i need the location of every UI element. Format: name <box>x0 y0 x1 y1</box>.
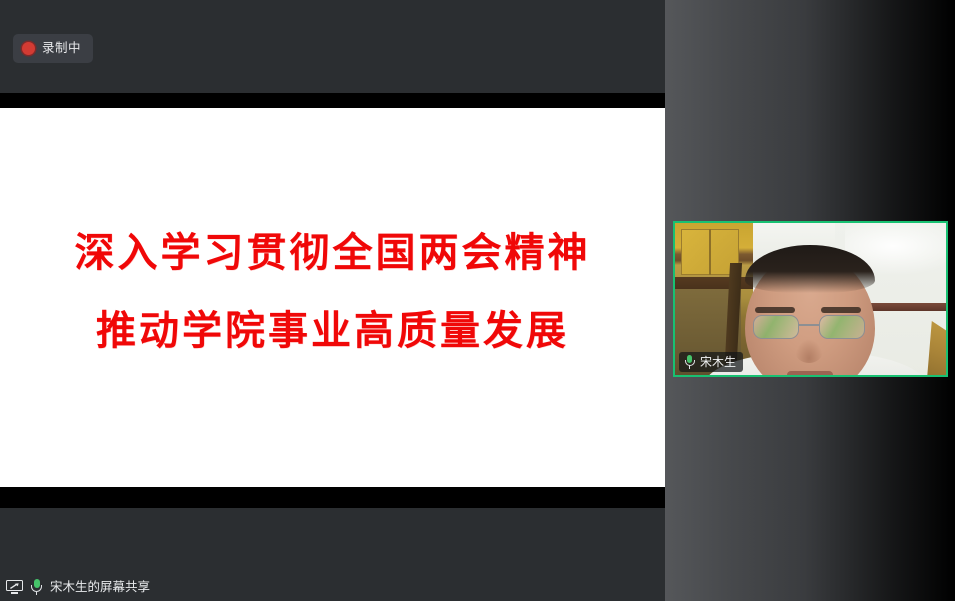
slide-headline-line-1: 深入学习贯彻全国两会精神 <box>75 214 591 292</box>
microphone-icon <box>684 355 695 370</box>
recording-badge[interactable]: 录制中 <box>13 34 93 63</box>
meeting-window: 录制中 深入学习贯彻全国两会精神 推动学院事业高质量发展 <box>0 0 955 601</box>
record-dot-icon <box>22 42 35 55</box>
participant-video-tile[interactable]: 宋木生 <box>673 221 948 377</box>
share-status-bar: 宋木生的屏幕共享 <box>0 574 665 601</box>
slide-headline-line-2: 推动学院事业高质量发展 <box>96 292 569 370</box>
letterbox-bottom <box>0 487 665 508</box>
screen-share-icon <box>6 580 23 595</box>
recording-label: 录制中 <box>42 42 81 55</box>
shared-screen-viewport[interactable]: 录制中 深入学习贯彻全国两会精神 推动学院事业高质量发展 <box>0 0 665 601</box>
share-status-text: 宋木生的屏幕共享 <box>50 581 150 594</box>
shared-screen-top-chrome <box>0 0 665 93</box>
letterbox-top <box>0 93 665 108</box>
participant-name: 宋木生 <box>700 356 736 368</box>
microphone-icon <box>30 579 43 596</box>
participant-name-tag: 宋木生 <box>679 352 743 372</box>
presentation-slide: 深入学习贯彻全国两会精神 推动学院事业高质量发展 <box>0 108 665 487</box>
